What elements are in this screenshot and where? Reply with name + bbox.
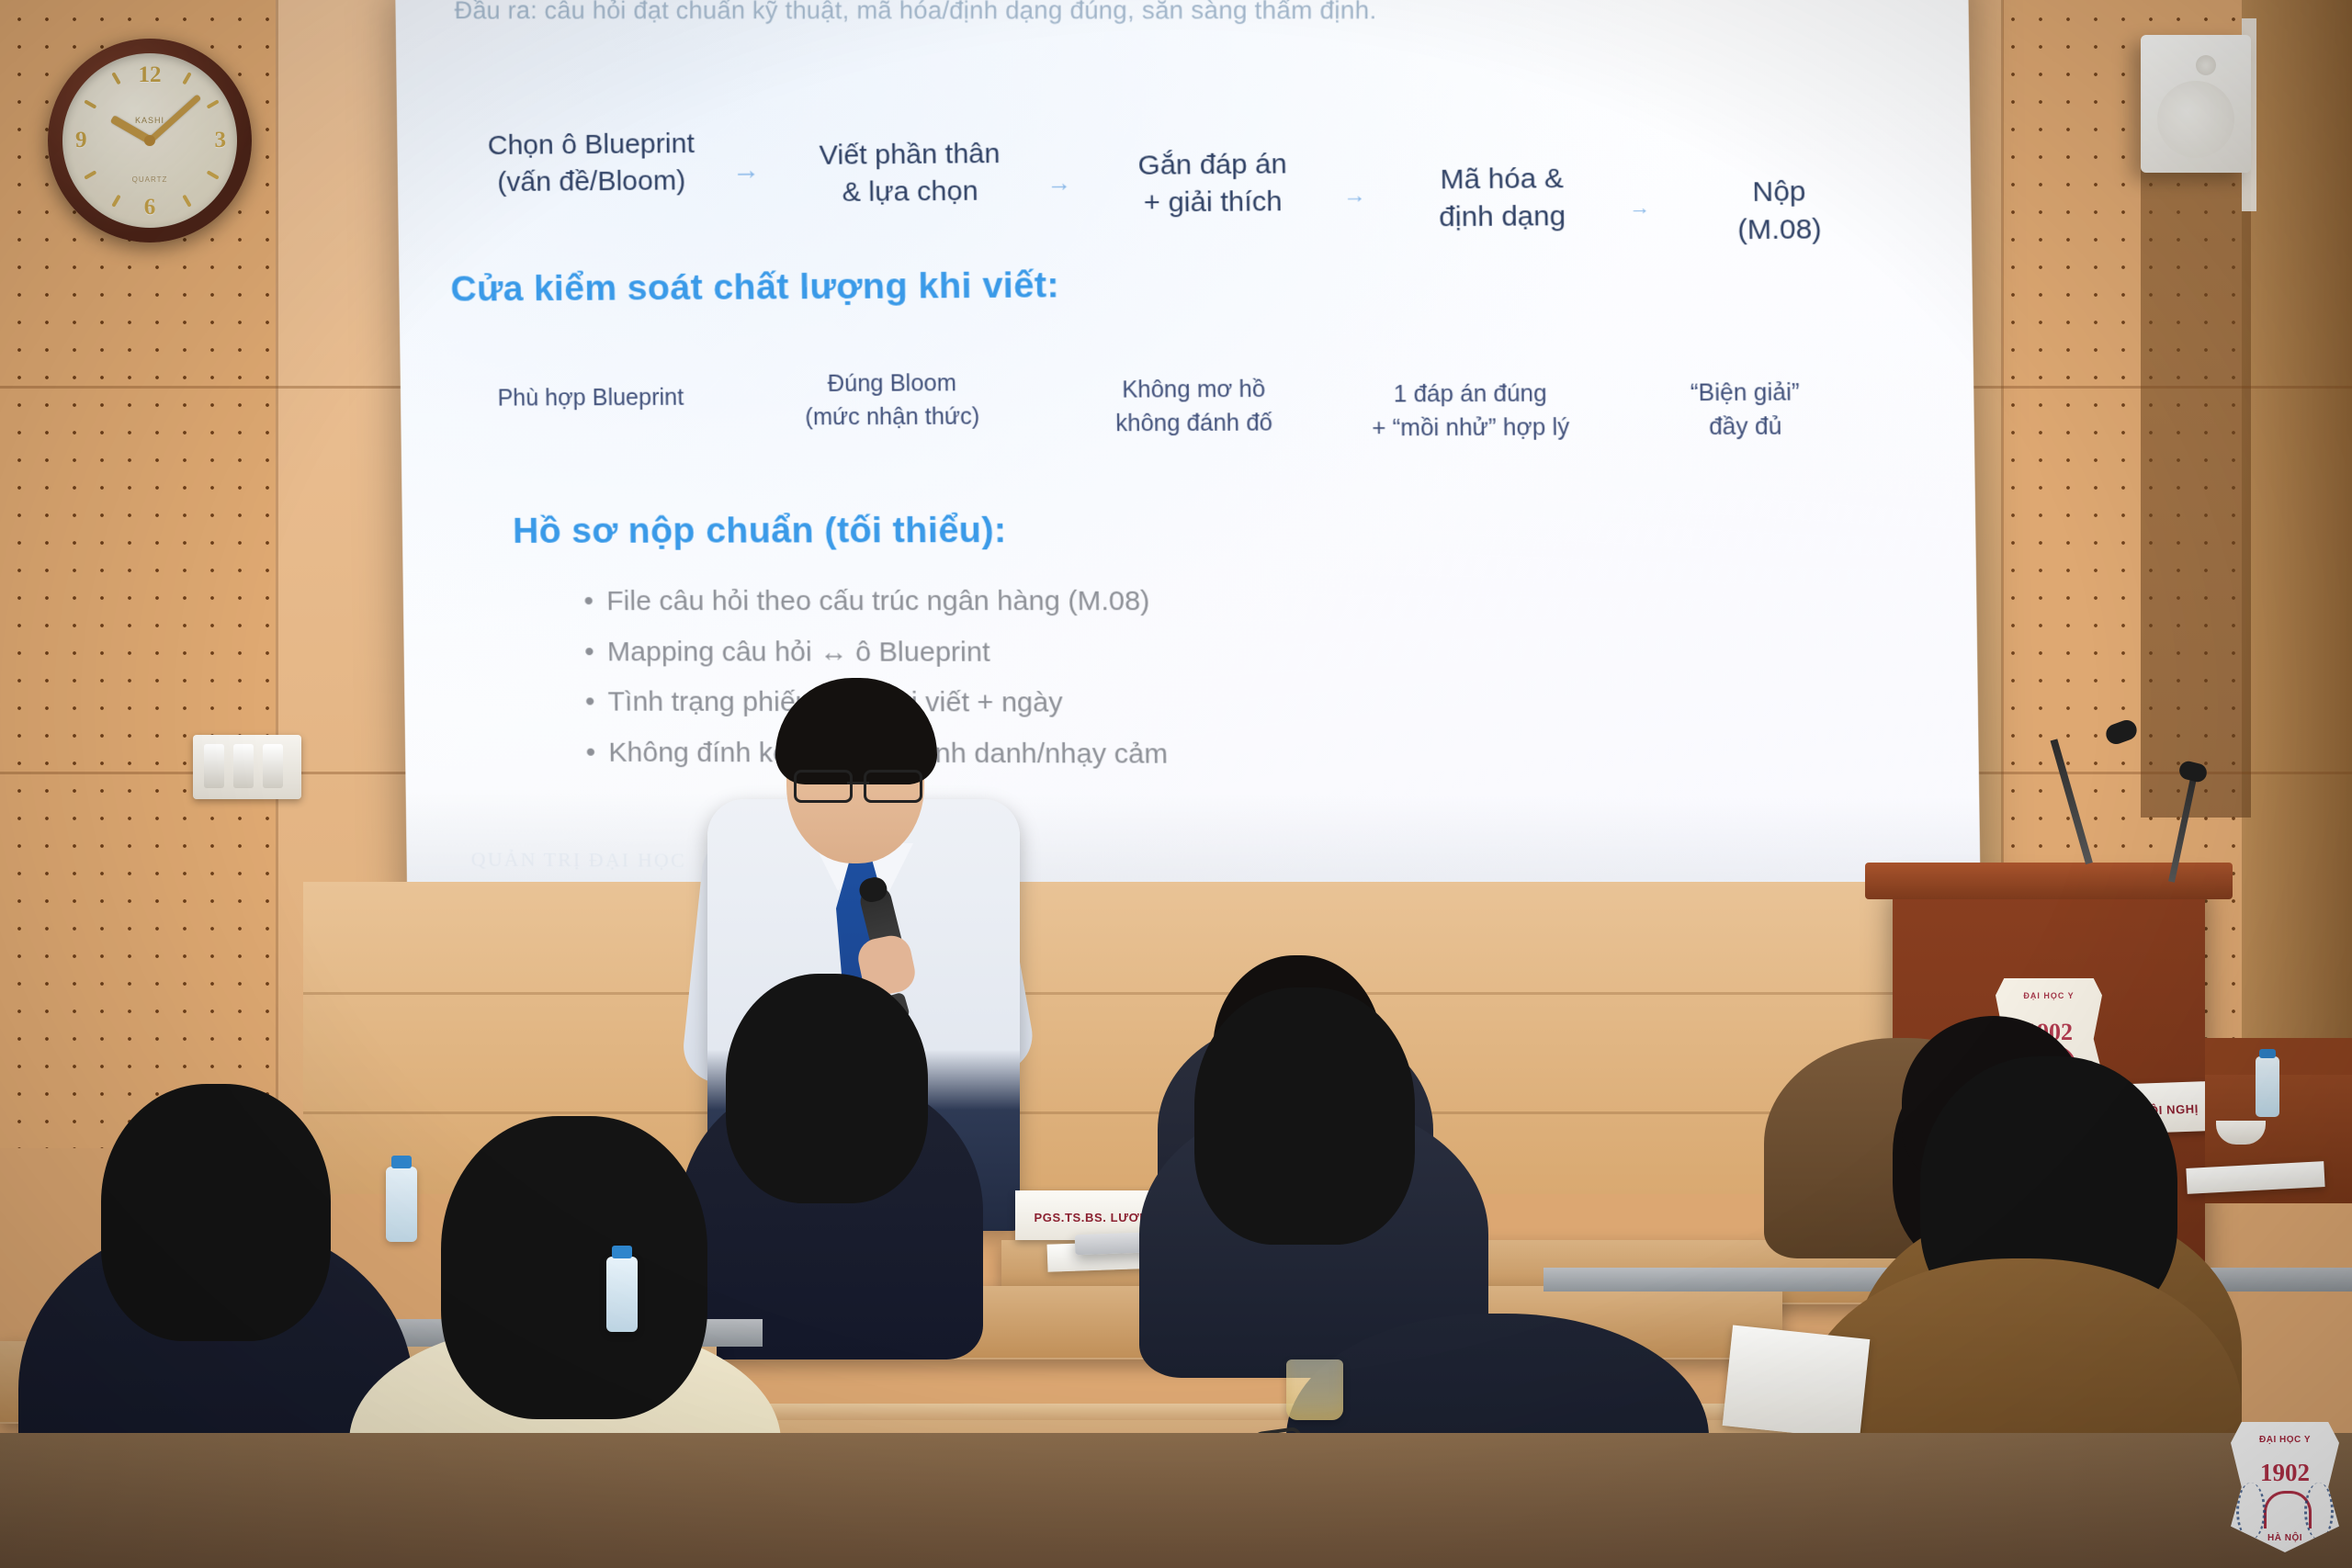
flow-step-1-line1: Chọn ô Blueprint <box>461 125 720 164</box>
emblem-top-text: ĐẠI HỌC Y <box>1996 991 2102 1000</box>
presenter-hair <box>775 678 937 784</box>
eyeglass-lens-right <box>864 770 922 803</box>
presenter-eyeglasses-icon <box>794 770 922 797</box>
qc-item-2-line2: (mức nhận thức) <box>762 400 1024 434</box>
flow-arrow-4-icon: → <box>1629 196 1650 220</box>
eyeglass-lens-left <box>794 770 853 803</box>
drinking-glass <box>1286 1359 1343 1420</box>
flow-step-2: Viết phần thân & lựa chọn <box>787 135 1032 212</box>
wall-seam <box>303 1111 1920 1114</box>
quality-control-heading: Cửa kiểm soát chất lượng khi viết: <box>450 265 1059 310</box>
light-switch[interactable] <box>204 744 224 788</box>
projection-screen: …QĐ Đầu ra: câu hỏi đạt chuẩn kỹ thuật, … <box>395 0 1981 911</box>
speaker-tweeter <box>2196 55 2216 75</box>
clock-numeral-3: 3 <box>215 128 227 153</box>
documents-held <box>1723 1325 1871 1439</box>
qc-item-4: 1 đáp án đúng + “mồi nhử” hợp lý <box>1327 377 1615 446</box>
flow-step-3: Gắn đáp án + giải thích <box>1094 145 1332 222</box>
flow-arrow-3-icon: → <box>1343 183 1366 209</box>
clock-numeral-9: 9 <box>75 128 87 153</box>
speaker-cone <box>2157 81 2234 158</box>
flow-step-5-line2: (M.08) <box>1668 210 1892 250</box>
laurel-left-icon <box>2236 1483 2266 1540</box>
flow-step-5-line1: Nộp <box>1668 173 1892 212</box>
wall-seam <box>276 0 278 1185</box>
water-bottle <box>386 1167 417 1242</box>
qc-item-5-line1: “Biện giải” <box>1634 376 1857 411</box>
clock-tick <box>182 72 191 85</box>
qc-item-1: Phù hợp Blueprint <box>452 380 730 415</box>
wall-switch-plate[interactable] <box>193 735 301 799</box>
wall-clock: KASHI QUARTZ 12 3 6 9 <box>48 39 252 243</box>
qc-item-4-line2: + “mồi nhử” hợp lý <box>1327 411 1615 446</box>
flow-step-2-line2: & lựa chọn <box>788 173 1033 212</box>
flow-arrow-2-icon: → <box>1046 168 1071 197</box>
quality-control-row: Phù hợp Blueprint Đúng Bloom (mức nhận t… <box>427 352 1964 461</box>
flow-step-4-line2: định dạng <box>1387 197 1618 237</box>
flow-step-1-line2: (vấn đề/Bloom) <box>462 163 721 202</box>
dossier-heading: Hồ sơ nộp chuẩn (tối thiểu): <box>513 511 1007 552</box>
floor <box>0 1433 2352 1568</box>
clock-tick <box>84 99 96 108</box>
bottle-cap <box>391 1156 412 1168</box>
qc-item-2-line1: Đúng Bloom <box>761 367 1023 401</box>
bottle-cap <box>612 1246 632 1258</box>
clock-tick <box>182 195 191 208</box>
clock-hub <box>144 135 155 146</box>
flow-step-1: Chọn ô Blueprint (vấn đề/Bloom) <box>461 125 721 201</box>
laurel-right-icon <box>2304 1483 2334 1540</box>
flow-arrow-1-icon: → <box>732 154 761 186</box>
clock-numeral-12: 12 <box>139 62 162 88</box>
qc-item-3-line2: không đánh đố <box>1070 406 1317 441</box>
water-bottle <box>606 1257 638 1332</box>
flow-step-3-line1: Gắn đáp án <box>1094 145 1332 185</box>
water-bottle <box>2256 1056 2279 1117</box>
light-switch[interactable] <box>263 744 283 788</box>
attendee-head <box>726 974 928 1203</box>
clock-brand: KASHI <box>62 116 237 125</box>
qc-item-3-line1: Không mơ hồ <box>1070 372 1317 407</box>
flow-step-5: Nộp (M.08) <box>1668 173 1892 251</box>
presentation-slide: …QĐ Đầu ra: câu hỏi đạt chuẩn kỹ thuật, … <box>395 0 1981 911</box>
qc-item-3: Không mơ hồ không đánh đố <box>1070 372 1317 441</box>
bottle-cap <box>2259 1049 2276 1058</box>
qc-item-4-line1: 1 đáp án đúng <box>1327 377 1615 412</box>
wall-corner-right <box>2242 0 2352 1056</box>
screenshot-root: KASHI QUARTZ 12 3 6 9 <box>0 0 2352 1568</box>
qc-item-2: Đúng Bloom (mức nhận thức) <box>761 367 1023 434</box>
attendee-head <box>1194 987 1415 1245</box>
qc-item-1-line1: Phù hợp Blueprint <box>452 380 730 415</box>
university-watermark-logo: ĐẠI HỌC Y 1902 HÀ NỘI <box>2231 1422 2339 1552</box>
qc-item-5: “Biện giải” đầy đủ <box>1634 376 1858 445</box>
attendee-head <box>441 1116 707 1419</box>
clock-tick <box>207 99 220 108</box>
qc-item-5-line2: đầy đủ <box>1634 410 1857 445</box>
flow-step-4: Mã hóa & định dạng <box>1386 160 1618 237</box>
process-flow: Chọn ô Blueprint (vấn đề/Bloom) → Viết p… <box>424 106 1962 259</box>
clock-face: KASHI QUARTZ 12 3 6 9 <box>62 53 237 228</box>
flow-step-4-line1: Mã hóa & <box>1386 160 1617 199</box>
flow-step-3-line2: + giải thích <box>1094 183 1332 222</box>
wall-seam <box>303 992 1920 995</box>
dossier-item: File câu hỏi theo cấu trúc ngân hàng (M.… <box>583 580 1681 624</box>
doorway-recess <box>2141 119 2251 818</box>
clock-tick <box>111 72 120 85</box>
clock-tick <box>111 195 120 208</box>
watermark-top-text: ĐẠI HỌC Y <box>2231 1435 2339 1445</box>
light-switch[interactable] <box>233 744 254 788</box>
attendee-head <box>101 1084 331 1341</box>
flow-step-2-line1: Viết phần thân <box>787 135 1032 175</box>
wall-speaker <box>2141 35 2251 173</box>
slide-subtitle: Đầu ra: câu hỏi đạt chuẩn kỹ thuật, mã h… <box>455 0 1856 25</box>
clock-numeral-6: 6 <box>144 195 156 220</box>
